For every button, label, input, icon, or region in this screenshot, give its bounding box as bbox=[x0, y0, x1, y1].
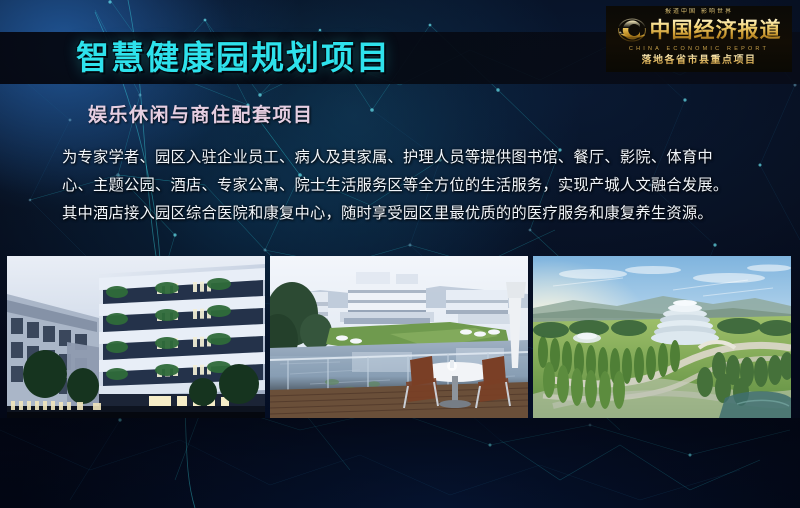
photo-lakeside-terrace bbox=[270, 256, 528, 418]
photo-residential-apartments bbox=[7, 256, 265, 418]
slide-canvas: 报道中国 影响世界 bbox=[0, 0, 800, 508]
body-line: 为专家学者、园区入驻企业员工、病人及其家属、护理人员等提供图书馆、餐厅、影院、体… bbox=[62, 143, 774, 171]
logo-sub-cn: 落地各省市县重点项目 bbox=[642, 54, 757, 68]
body-text-block: 为专家学者、园区入驻企业员工、病人及其家属、护理人员等提供图书馆、餐厅、影院、体… bbox=[62, 143, 774, 227]
page-title: 智慧健康园规划项目 bbox=[76, 38, 391, 78]
body-line: 心、主题公园、酒店、专家公寓、院士生活服务区等全方位的生活服务，实现产城人文融合… bbox=[62, 171, 774, 199]
bottom-fade-overlay bbox=[0, 418, 800, 508]
brand-logo: 报道中国 影响世界 bbox=[606, 6, 792, 72]
photo-aerial-park bbox=[533, 256, 791, 418]
photo-strip bbox=[7, 256, 793, 418]
logo-name-en: CHINA ECONOMIC REPORT bbox=[629, 45, 769, 53]
golden-c-logo-icon bbox=[617, 15, 647, 45]
page-subtitle: 娱乐休闲与商住配套项目 bbox=[88, 102, 314, 128]
logo-name-cn: 中国经济报道 bbox=[650, 18, 782, 42]
body-line: 其中酒店接入园区综合医院和康复中心，随时享受园区里最优质的的医疗服务和康复养生资… bbox=[62, 199, 774, 227]
logo-main-row: 中国经济报道 bbox=[617, 15, 782, 45]
